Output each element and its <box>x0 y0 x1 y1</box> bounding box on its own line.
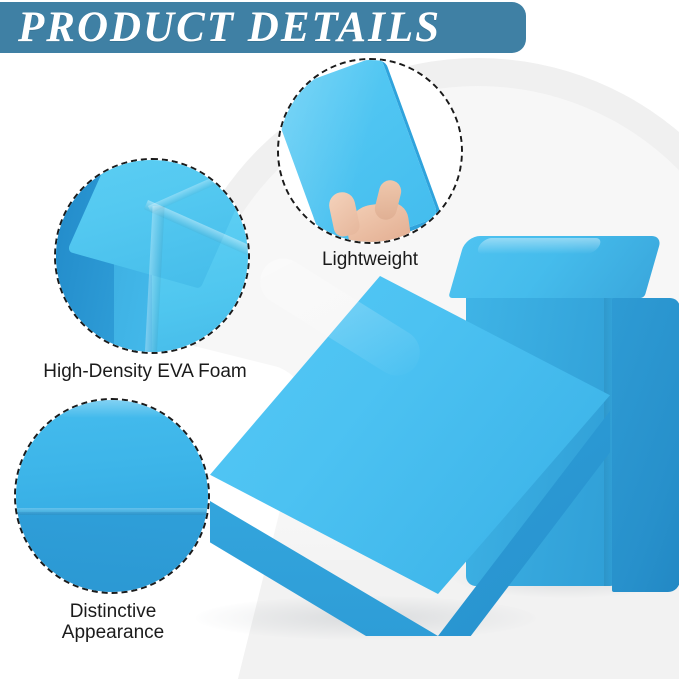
callout-label-distinctive: Distinctive Appearance <box>8 602 218 643</box>
callout-distinctive-appearance: Distinctive Appearance <box>8 398 218 643</box>
foam-corner-illustration <box>56 160 248 352</box>
callout-circle-foam <box>54 158 250 354</box>
hand-thumb <box>327 190 362 238</box>
hand-holding-block-illustration <box>279 60 461 242</box>
callout-label-lightweight: Lightweight <box>272 250 468 271</box>
surface-closeup-illustration <box>16 400 208 592</box>
callout-label-foam: High-Density EVA Foam <box>32 362 258 383</box>
back-block-top-highlight <box>475 238 604 254</box>
surface-lower-tone <box>14 512 210 594</box>
yoga-block-leaning <box>210 276 630 636</box>
callout-circle-distinctive <box>14 398 210 594</box>
product-details-image: High-Density EVA Foam Lightweight <box>0 0 679 679</box>
surface-highlight <box>34 398 194 418</box>
page-title: PRODUCT DETAILS <box>18 6 441 49</box>
callout-high-density-eva-foam: High-Density EVA Foam <box>46 158 258 383</box>
hand-icon <box>331 186 415 244</box>
callout-lightweight: Lightweight <box>272 58 468 271</box>
product-details-banner: PRODUCT DETAILS <box>0 2 526 53</box>
callout-circle-lightweight <box>277 58 463 244</box>
surface-seam-line <box>14 508 210 515</box>
